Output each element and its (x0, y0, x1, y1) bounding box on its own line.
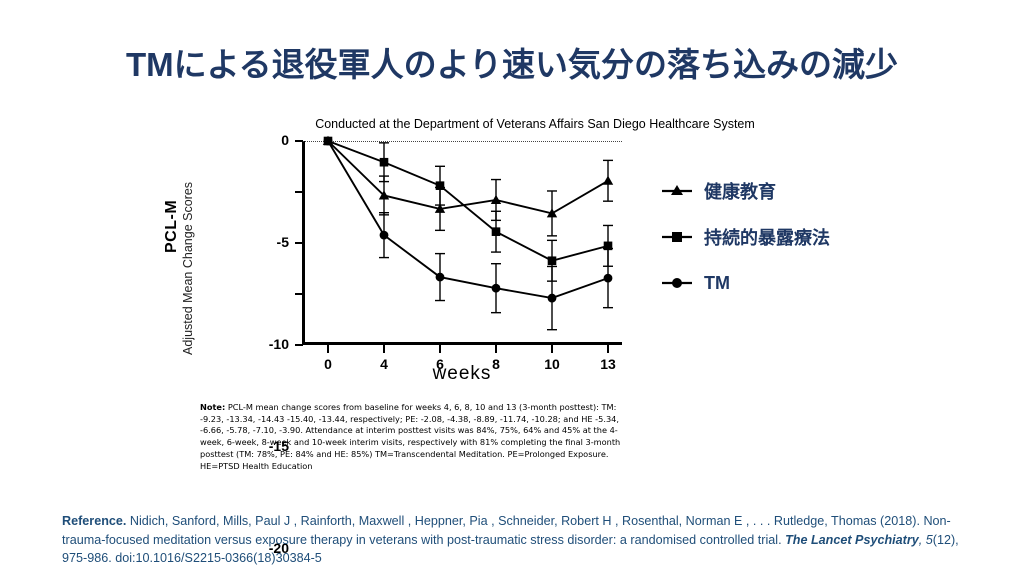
x-axis-tick (439, 345, 441, 353)
legend-item-label: 健康教育 (704, 178, 776, 204)
page-title: TMによる退役軍人のより速い気分の落ち込みの減少 (0, 38, 1024, 86)
series-line (328, 141, 608, 261)
note-body: PCL-M mean change scores from baseline f… (200, 402, 620, 471)
data-point-square (380, 158, 389, 167)
x-axis-tick (551, 345, 553, 353)
x-axis-title: weeks (302, 363, 622, 385)
note-label: Note: (200, 402, 225, 412)
data-point-circle (380, 231, 389, 240)
series-TM (324, 137, 613, 330)
reference-citation: Reference. Nidich, Sanford, Mills, Paul … (62, 512, 972, 568)
x-axis-tick (495, 345, 497, 353)
data-point-circle (436, 273, 445, 282)
data-point-triangle (491, 195, 501, 204)
y-axis-tick-label: -10 (269, 336, 289, 352)
reference-journal: The Lancet Psychiatry (785, 533, 919, 547)
reference-volume: 5 (926, 533, 933, 547)
square-marker (660, 229, 694, 245)
legend-item-2[interactable]: 持続的暴露療法 (660, 214, 910, 260)
legend-item-label: 持続的暴露療法 (704, 224, 830, 250)
series-PE (324, 137, 613, 281)
legend-item-1[interactable]: 健康教育 (660, 168, 910, 214)
data-point-square (492, 227, 501, 236)
data-point-square (436, 181, 445, 190)
figure-note: Note: PCL-M mean change scores from base… (200, 402, 625, 472)
chart-legend: 健康教育持続的暴露療法TM (660, 168, 910, 306)
data-point-circle (604, 274, 613, 283)
series-HE (323, 136, 613, 236)
data-point-circle (548, 294, 557, 303)
y-axis-title-sub: Adjusted Mean Change Scores (181, 182, 195, 355)
series-line (328, 141, 608, 213)
legend-item-3[interactable]: TM (660, 260, 910, 306)
x-axis-tick (383, 345, 385, 353)
y-axis-tick-label: -5 (277, 234, 289, 250)
chart-subtitle: Conducted at the Department of Veterans … (275, 117, 795, 131)
data-point-triangle (603, 176, 613, 185)
plot-area: 0-5-10-15-20 04681013 weeks (302, 141, 622, 345)
y-axis-tick-label: 0 (281, 132, 289, 148)
data-point-circle (492, 284, 501, 293)
reference-label: Reference. (62, 514, 126, 528)
x-axis-tick (607, 345, 609, 353)
data-point-circle (324, 137, 333, 146)
series-line (328, 141, 608, 298)
slide-canvas: TMによる退役軍人のより速い気分の落ち込みの減少 Conducted at th… (0, 0, 1024, 576)
y-axis-title-main: PCL-M (163, 200, 181, 253)
reference-volume-prefix: , (919, 533, 926, 547)
data-point-square (548, 256, 557, 265)
x-axis-tick (327, 345, 329, 353)
series-layer (302, 141, 622, 345)
triangle-marker (660, 183, 694, 199)
circle-marker (660, 275, 694, 291)
legend-item-label: TM (704, 273, 730, 294)
